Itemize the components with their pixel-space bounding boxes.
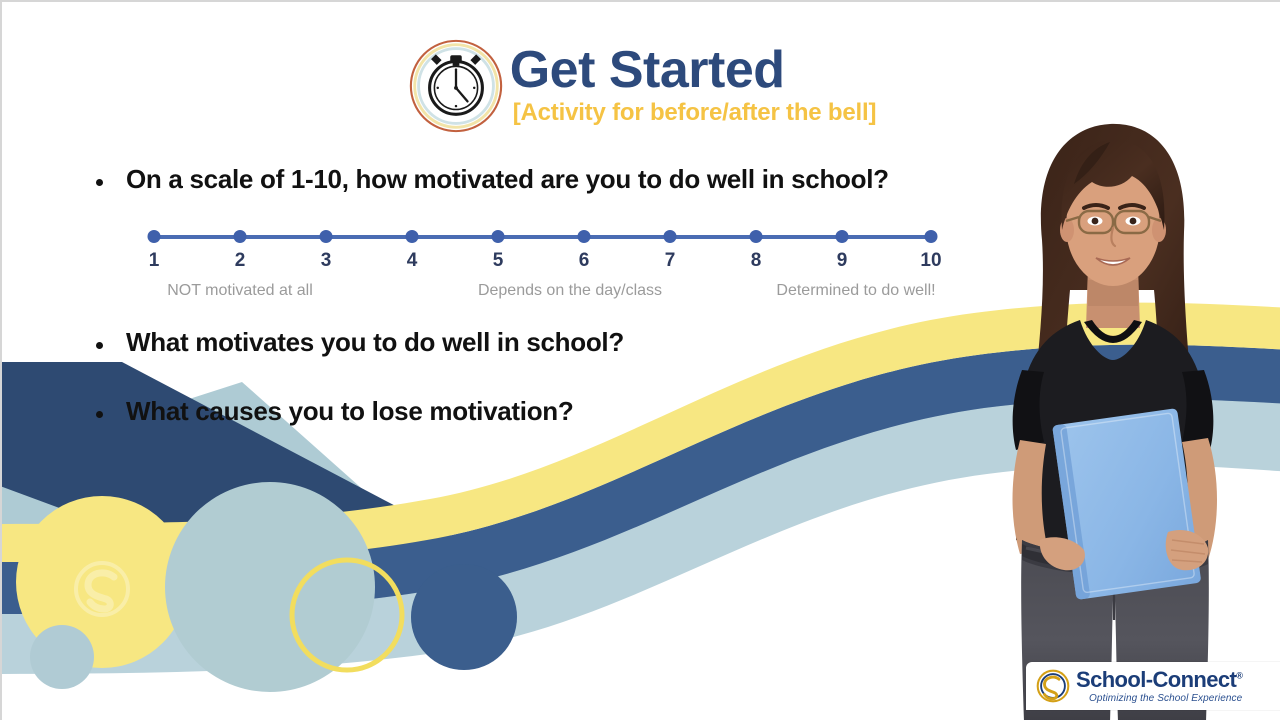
- logo-tagline: Optimizing the School Experience: [1076, 693, 1242, 704]
- page-subtitle: [Activity for before/after the bell]: [513, 100, 877, 125]
- bullet-item-1: On a scale of 1-10, how motivated are yo…: [96, 164, 1056, 195]
- scale-dot-5[interactable]: [492, 230, 505, 243]
- decor-small-circle: [30, 625, 94, 689]
- bullet-marker-icon: [96, 342, 103, 349]
- bullet-text-2: What motivates you to do well in school?: [126, 327, 624, 358]
- page-title: Get Started: [510, 46, 877, 96]
- scale-dot-4[interactable]: [406, 230, 419, 243]
- scale-caption-high: Determined to do well!: [776, 282, 935, 300]
- scale-dots: [150, 230, 940, 244]
- sleeve-right: [1182, 370, 1213, 450]
- scale-number-2: 2: [235, 250, 246, 272]
- decor-navy-circle: [411, 564, 517, 670]
- scale-dot-8[interactable]: [750, 230, 763, 243]
- stopwatch-icon: [408, 38, 504, 134]
- decor-navy-circle-texture: [411, 564, 517, 670]
- scale-number-4: 4: [407, 250, 418, 272]
- slide-canvas: Get Started [Activity for before/after t…: [0, 0, 1280, 720]
- decor-large-circle: [165, 482, 375, 692]
- decor-s-watermark: [76, 563, 128, 615]
- blue-binder: [1052, 408, 1201, 600]
- scale-number-6: 6: [579, 250, 590, 272]
- scale-dot-7[interactable]: [664, 230, 677, 243]
- scale-numbers: 1 2 3 4 5 6 7 8 9 10: [150, 250, 940, 274]
- bullet-text-3: What causes you to lose motivation?: [126, 396, 573, 427]
- bullet-item-2: What motivates you to do well in school?: [96, 327, 624, 358]
- bullet-text-1: On a scale of 1-10, how motivated are yo…: [126, 164, 889, 195]
- scale-number-10: 10: [920, 250, 941, 272]
- scale-dot-9[interactable]: [836, 230, 849, 243]
- bullet-marker-icon: [96, 179, 103, 186]
- scale-number-9: 9: [837, 250, 848, 272]
- school-connect-logo: School-Connect® Optimizing the School Ex…: [1026, 662, 1280, 710]
- slide-header: Get Started [Activity for before/after t…: [2, 34, 1280, 134]
- school-connect-circle-icon: [1036, 669, 1070, 703]
- decor-yellow-circle: [16, 496, 188, 668]
- scale-captions: NOT motivated at all Depends on the day/…: [150, 282, 940, 304]
- scale-dot-10[interactable]: [925, 230, 938, 243]
- scale-number-1: 1: [149, 250, 160, 272]
- scale-dot-2[interactable]: [234, 230, 247, 243]
- logo-registered-mark: ®: [1236, 670, 1242, 680]
- bullet-list: On a scale of 1-10, how motivated are yo…: [96, 164, 1056, 195]
- scale-number-5: 5: [493, 250, 504, 272]
- scale-caption-low: NOT motivated at all: [167, 282, 313, 300]
- scale-dot-3[interactable]: [320, 230, 333, 243]
- motivation-scale: 1 2 3 4 5 6 7 8 9 10 NOT motivated at al…: [150, 230, 940, 304]
- scale-number-8: 8: [751, 250, 762, 272]
- logo-name: School-Connect®: [1076, 669, 1242, 691]
- sleeve-left: [1013, 370, 1044, 450]
- scale-number-7: 7: [665, 250, 676, 272]
- scale-dot-1[interactable]: [148, 230, 161, 243]
- decor-yellow-ring: [292, 560, 402, 670]
- scale-caption-mid: Depends on the day/class: [478, 282, 662, 300]
- student-photo: [962, 120, 1280, 720]
- scale-number-3: 3: [321, 250, 332, 272]
- bullet-marker-icon: [96, 411, 103, 418]
- scale-dot-6[interactable]: [578, 230, 591, 243]
- bullet-item-3: What causes you to lose motivation?: [96, 396, 573, 427]
